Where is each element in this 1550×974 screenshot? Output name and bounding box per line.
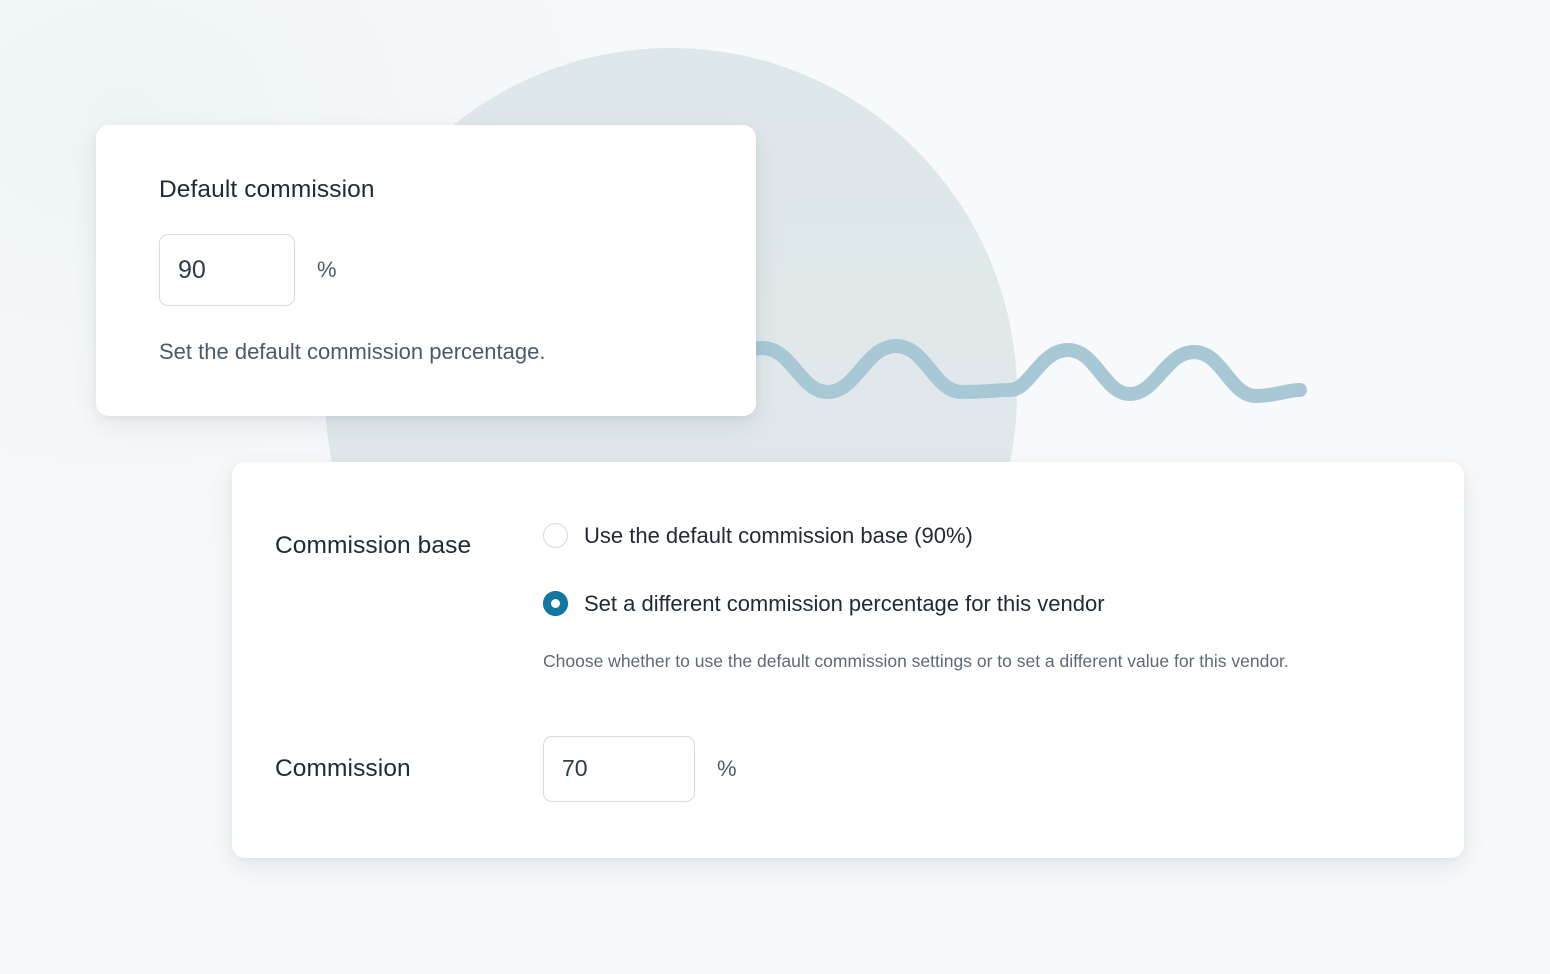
radio-circle-selected-icon[interactable] — [543, 591, 568, 616]
default-commission-input[interactable] — [159, 234, 295, 306]
commission-base-options-column: Use the default commission base (90%) Se… — [543, 522, 1424, 674]
commission-input[interactable] — [543, 736, 695, 802]
commission-input-row: % — [543, 736, 1424, 802]
radio-circle-icon[interactable] — [543, 523, 568, 548]
commission-label: Commission — [275, 754, 543, 783]
default-commission-input-row: % — [159, 234, 716, 306]
page-canvas: Default commission % Set the default com… — [0, 0, 1550, 974]
default-commission-label: Default commission — [159, 175, 716, 204]
radio-option-set-different[interactable]: Set a different commission percentage fo… — [543, 590, 1424, 618]
commission-row: Commission % — [275, 736, 1424, 802]
commission-base-row: Commission base Use the default commissi… — [275, 522, 1424, 674]
default-commission-percent-suffix: % — [317, 259, 337, 281]
commission-base-help-text: Choose whether to use the default commis… — [543, 649, 1424, 674]
vendor-commission-card: Commission base Use the default commissi… — [232, 462, 1464, 858]
radio-option-use-default[interactable]: Use the default commission base (90%) — [543, 522, 1424, 550]
commission-base-label: Commission base — [275, 531, 543, 560]
commission-label-column: Commission — [275, 736, 543, 783]
commission-percent-suffix: % — [717, 758, 737, 780]
radio-option-set-different-label: Set a different commission percentage fo… — [584, 590, 1105, 618]
commission-input-column: % — [543, 736, 1424, 802]
radio-option-use-default-label: Use the default commission base (90%) — [584, 522, 973, 550]
default-commission-help-text: Set the default commission percentage. — [159, 337, 716, 367]
default-commission-card: Default commission % Set the default com… — [96, 125, 756, 416]
commission-base-label-column: Commission base — [275, 522, 543, 560]
